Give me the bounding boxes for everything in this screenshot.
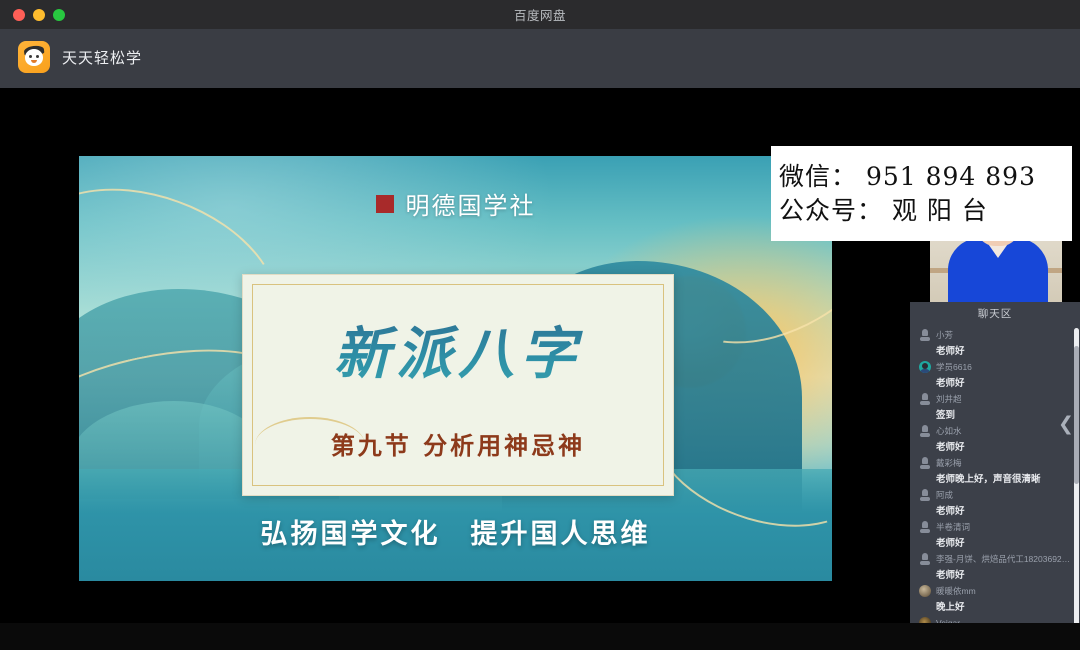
red-square-icon (376, 195, 394, 213)
chat-username: 心如水 (936, 425, 962, 437)
avatar (919, 521, 931, 533)
window-title: 百度网盘 (0, 5, 1080, 24)
brand-name: 天天轻松学 (62, 47, 142, 68)
slide-org-name: 明德国学社 (406, 186, 536, 221)
chat-message-text: 老师晚上好，声音很清晰 (910, 470, 1080, 488)
chat-user-row: 学员6616 (910, 360, 1080, 374)
window-footer-bar (0, 623, 1080, 650)
stage-area: 明德国学社 新派八字 第九节 分析用神忌神 弘扬国学文化 提升国人思维 (0, 88, 1080, 623)
minimize-button[interactable] (33, 9, 45, 21)
window-controls[interactable] (13, 0, 65, 29)
chat-username: 阿成 (936, 489, 953, 501)
chat-message-text: 晚上好 (910, 598, 1080, 616)
avatar (919, 393, 931, 405)
chat-user-row: 心如水 (910, 424, 1080, 438)
watermark-wechat-line: 微信： 951 894 893 (779, 160, 1072, 194)
chat-scrollbar[interactable] (1074, 328, 1079, 650)
brand[interactable]: 天天轻松学 (18, 41, 142, 73)
chat-message-text: 签到 (910, 406, 1080, 424)
chat-username: 暖暖依mm (936, 585, 976, 597)
avatar (919, 457, 931, 469)
presentation-slide[interactable]: 明德国学社 新派八字 第九节 分析用神忌神 弘扬国学文化 提升国人思维 (79, 156, 832, 581)
zoom-button[interactable] (53, 9, 65, 21)
avatar (919, 585, 931, 597)
chat-message-text: 老师好 (910, 374, 1080, 392)
window-titlebar: 百度网盘 (0, 0, 1080, 29)
chat-scrollbar-thumb[interactable] (1074, 346, 1079, 484)
slide-title: 新派八字 (243, 309, 673, 390)
chat-username: 李强-月饼、烘焙品代工18203692785 (936, 553, 1074, 565)
slide-footer-text: 弘扬国学文化 提升国人思维 (79, 512, 832, 551)
chat-user-row: 暖暖依mm (910, 584, 1080, 598)
avatar (919, 553, 931, 565)
chat-username: 小芳 (936, 329, 953, 341)
chat-username: 半卷清词 (936, 521, 970, 533)
slide-title-card: 新派八字 第九节 分析用神忌神 (242, 274, 674, 496)
contact-watermark: 微信： 951 894 893 公众号： 观 阳 台 (771, 146, 1072, 241)
chat-message-text: 老师好 (910, 534, 1080, 552)
chat-user-row: 半卷清词 (910, 520, 1080, 534)
watermark-official-account-line: 公众号： 观 阳 台 (779, 194, 1072, 228)
slide-org-logo: 明德国学社 (79, 186, 832, 221)
chat-message-text: 老师好 (910, 566, 1080, 584)
chevron-left-icon[interactable]: ❮ (1058, 410, 1074, 438)
avatar (919, 329, 931, 341)
chat-panel: 聊天区 小芳老师好学员6616老师好刘井超签到心如水老师好戴彩梅老师晚上好，声音… (910, 302, 1080, 650)
chat-user-row: 刘井超 (910, 392, 1080, 406)
chat-user-row: 李强-月饼、烘焙品代工18203692785 (910, 552, 1080, 566)
chat-message-text: 老师好 (910, 502, 1080, 520)
chat-message-text: 老师好 (910, 342, 1080, 360)
app-logo-icon (18, 41, 50, 73)
avatar (919, 489, 931, 501)
chat-username: 刘井超 (936, 393, 962, 405)
app-header: 天天轻松学 (0, 29, 1080, 88)
chat-username: 学员6616 (936, 361, 972, 373)
chat-username: 戴彩梅 (936, 457, 962, 469)
close-button[interactable] (13, 9, 25, 21)
chat-user-row: 阿成 (910, 488, 1080, 502)
chat-user-row: 小芳 (910, 328, 1080, 342)
slide-subtitle: 第九节 分析用神忌神 (243, 426, 673, 461)
chat-message-text: 老师好 (910, 438, 1080, 456)
app-window: 百度网盘 天天轻松学 (0, 0, 1080, 650)
avatar (919, 425, 931, 437)
chat-user-row: 戴彩梅 (910, 456, 1080, 470)
avatar (919, 361, 931, 373)
chat-panel-title: 聊天区 (910, 302, 1080, 326)
chat-message-list[interactable]: 小芳老师好学员6616老师好刘井超签到心如水老师好戴彩梅老师晚上好，声音很清晰阿… (910, 326, 1080, 650)
